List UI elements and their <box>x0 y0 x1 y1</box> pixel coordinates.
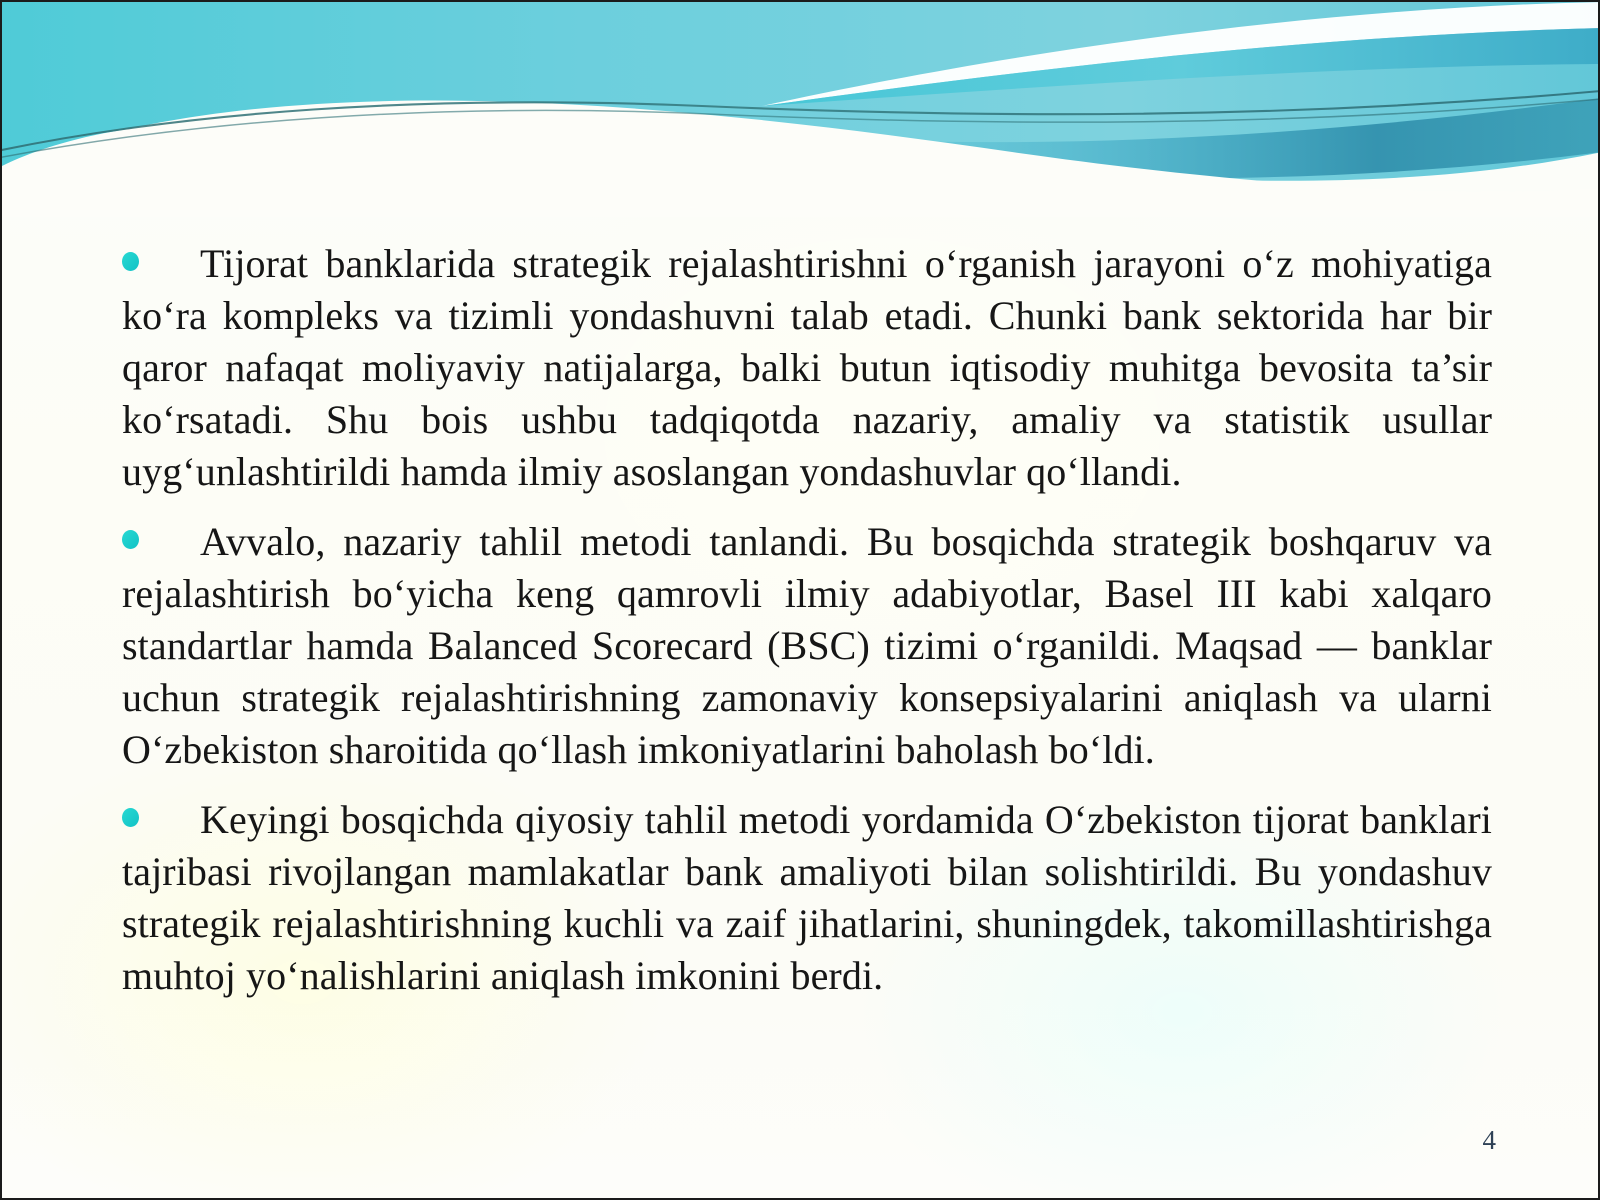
bullet-paragraph: Tijorat banklarida strategik rejalashtir… <box>122 238 1492 498</box>
page-number: 4 <box>1483 1125 1497 1156</box>
slide-body: Tijorat banklarida strategik rejalashtir… <box>122 238 1492 1002</box>
bullet-text: Keyingi bosqichda qiyosiy tahlil metodi … <box>122 797 1492 998</box>
bullet-dot-icon <box>122 252 139 271</box>
bullet-text: Avvalo, nazariy tahlil metodi tanlandi. … <box>122 519 1492 772</box>
bullet-dot-icon <box>122 530 139 549</box>
bullet-text: Tijorat banklarida strategik rejalashtir… <box>122 241 1492 494</box>
presentation-slide: Tijorat banklarida strategik rejalashtir… <box>0 0 1600 1200</box>
bullet-dot-icon <box>122 808 139 827</box>
bullet-paragraph: Avvalo, nazariy tahlil metodi tanlandi. … <box>122 516 1492 776</box>
bullet-indent <box>122 238 200 290</box>
bullet-paragraph: Keyingi bosqichda qiyosiy tahlil metodi … <box>122 794 1492 1002</box>
turquoise-wave-banner-icon <box>2 2 1600 217</box>
bullet-indent <box>122 516 200 568</box>
bullet-indent <box>122 794 200 846</box>
